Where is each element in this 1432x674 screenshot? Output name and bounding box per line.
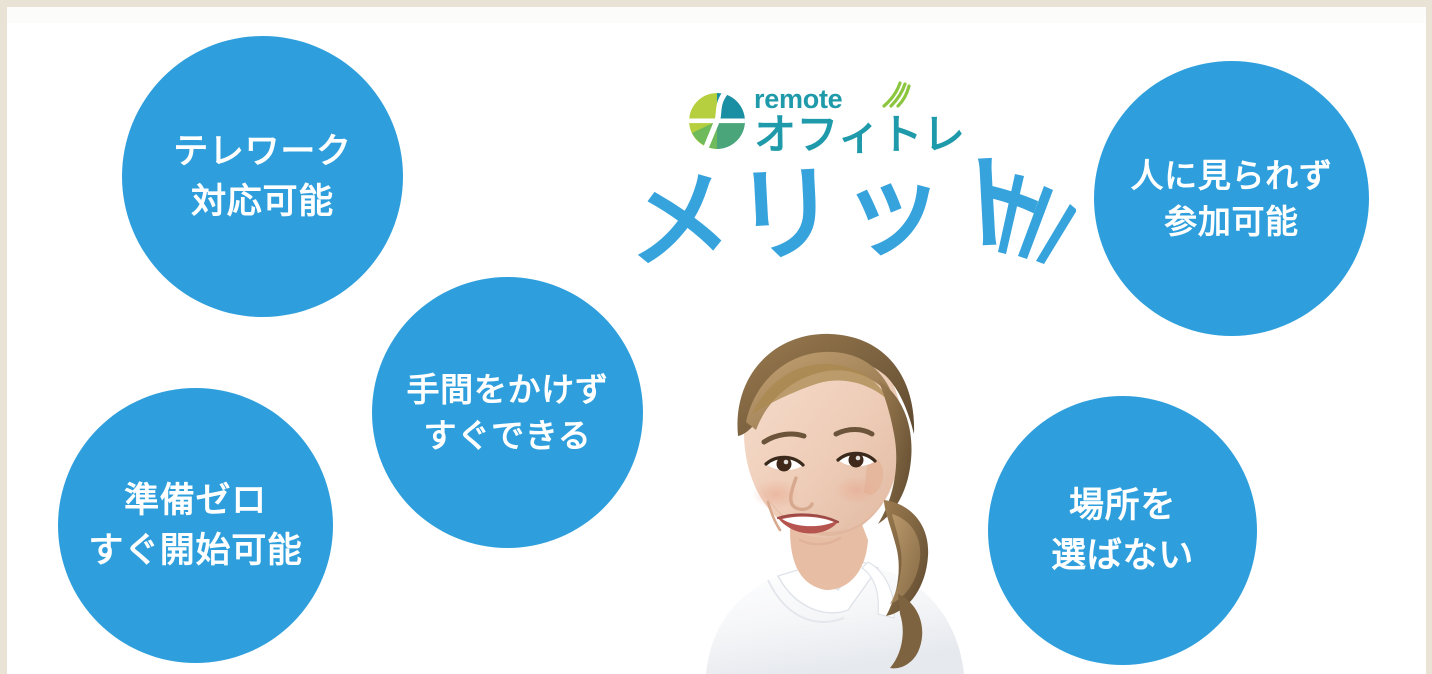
merit-bubble-no-effort[interactable]: 手間をかけず すぐできる xyxy=(372,277,643,548)
merit-bubble-line-1: テレワーク xyxy=(173,134,352,169)
smiling-woman-portrait xyxy=(672,318,990,674)
headline-group: メリット xyxy=(630,172,1060,304)
merit-bubble-anywhere[interactable]: 場所を 選ばない xyxy=(988,396,1257,665)
page-frame-left xyxy=(0,0,7,674)
page-frame-top xyxy=(0,0,1432,7)
page-frame-inner-top xyxy=(7,7,1426,23)
brand-logo-latin-word: remote xyxy=(754,86,842,113)
sparkle-lines-icon xyxy=(982,160,1076,264)
merit-bubble-unseen[interactable]: 人に見られず 参加可能 xyxy=(1094,61,1369,336)
merit-bubble-zero-prep[interactable]: 準備ゼロ すぐ開始可能 xyxy=(58,388,333,663)
merit-bubble-line-2: 参加可能 xyxy=(1164,205,1299,238)
merit-bubble-line-1: 準備ゼロ xyxy=(124,483,267,518)
merit-bubble-line-1: 手間をかけず xyxy=(407,373,609,406)
merit-bubble-line-1: 人に見られず xyxy=(1131,159,1333,192)
wifi-signal-icon xyxy=(878,80,914,110)
remote-offitore-leaf-circle-logo-icon xyxy=(686,90,748,152)
merit-bubble-line-1: 場所を xyxy=(1069,488,1176,523)
merit-bubble-line-2: 選ばない xyxy=(1051,538,1194,573)
merit-bubble-line-2: すぐできる xyxy=(424,419,592,452)
page-frame-right xyxy=(1426,0,1432,674)
merit-bubble-line-2: すぐ開始可能 xyxy=(88,533,302,568)
merit-bubble-telework[interactable]: テレワーク 対応可能 xyxy=(122,36,403,317)
merit-banner: remote オフィトレ メリット xyxy=(0,0,1432,674)
merit-bubble-line-2: 対応可能 xyxy=(191,184,334,219)
